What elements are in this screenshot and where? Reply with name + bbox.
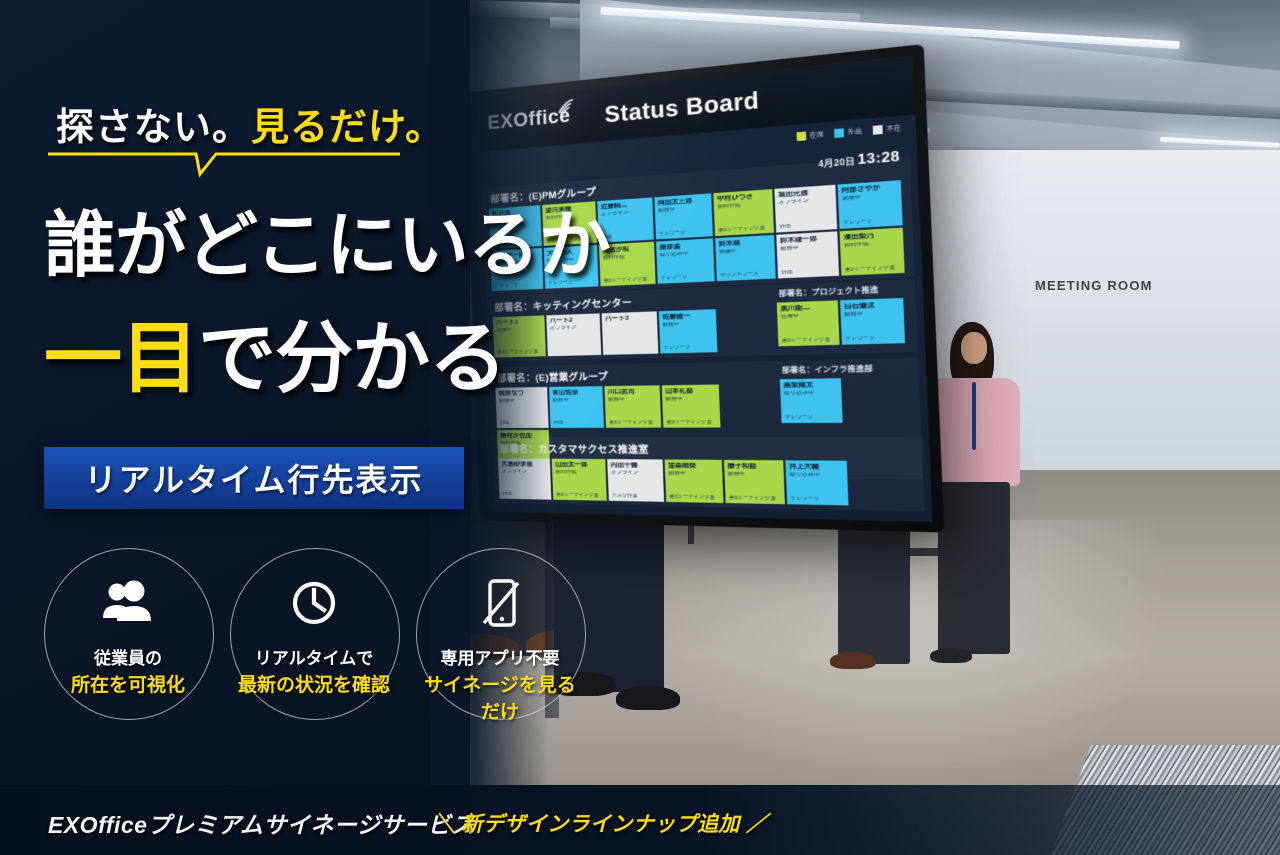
status-legend: 在席 外出 不在: [796, 122, 901, 141]
card-person-name: 黒川能二: [780, 303, 834, 312]
status-card[interactable]: 鈴木雄一郎勤務中外出: [776, 231, 839, 278]
meeting-room-sign: MEETING ROOM: [1035, 278, 1153, 293]
status-card[interactable]: 服部遥取り込み中テレワーク: [656, 238, 715, 283]
card-person-name: 山田太一郎: [555, 461, 603, 468]
card-status: 勤務中: [658, 205, 708, 214]
feature-circles: 従業員の 所在を可視化 リアルタイムで 最新の状況を確認: [44, 548, 584, 728]
feature-label-line1: 従業員の: [44, 644, 212, 669]
headline-rest: で分かる: [198, 314, 506, 402]
legend-item: 外出: [834, 126, 862, 138]
kicker-yellow: 見るだけ。: [251, 107, 444, 149]
card-location: テレワーク: [661, 274, 688, 281]
department-subgroup: 部署名：プロジェクト推進黒川能二在席中第3ミーティング室白石優汰勤務中テレワーク: [776, 283, 905, 346]
feature-realtime: リアルタイムで 最新の状況を確認: [230, 548, 400, 720]
underline-tail-icon: [48, 148, 400, 182]
card-location: テレワーク: [790, 496, 819, 503]
kicker-white: 探さない。: [56, 107, 251, 149]
advertisement-banner: MEETING ROOM: [0, 0, 1280, 855]
card-status: 勤務中: [552, 397, 599, 403]
speech-bubble-underline: [48, 148, 400, 182]
status-card[interactable]: 青山佐奈勤務中外出: [549, 386, 604, 428]
card-location: テレワーク: [843, 219, 873, 227]
status-card[interactable]: パート2オフライン: [546, 313, 601, 356]
card-location: テレワーク: [659, 230, 686, 237]
status-card[interactable]: 藤子和都勤務中第3ミーティング室: [724, 460, 785, 504]
card-location: 第2ミーティング室: [718, 225, 765, 234]
card-status: 勤務中: [663, 321, 714, 329]
status-card[interactable]: 岡田太三郎勤務中テレワーク: [654, 193, 712, 239]
status-card[interactable]: 阿部さやか退席中テレワーク: [838, 180, 903, 229]
status-card[interactable]: 金森陽葵勤務中第3ミーティング室: [665, 459, 724, 503]
department-subgroup: 部署名：インフラ推進部高梨陽太取り込み中テレワーク: [779, 363, 875, 423]
status-card[interactable]: 内田千鶴オフラインデスク作業: [607, 459, 664, 502]
card-status: オフライン: [550, 325, 597, 332]
card-status: 取り込み中: [789, 472, 843, 479]
card-status: 会議中: [719, 247, 771, 256]
card-person-name: 内田千鶴: [610, 462, 659, 469]
legend-swatch-in-office: [796, 131, 806, 141]
realtime-badge-label: リアルタイム行先表示: [84, 455, 423, 501]
card-location: 第3ミーティング室: [669, 494, 715, 501]
feature-no-app-needed: 専用アプリ不要 サイネージを見るだけ: [416, 548, 586, 720]
card-row: 黒川能二在席中第3ミーティング室白石優汰勤務中テレワーク: [777, 298, 905, 346]
card-person-name: パート3: [605, 314, 654, 323]
no-phone-icon: [416, 572, 584, 634]
footer-tagline: ＼ 新デザインラインナップ追加 ／: [434, 808, 767, 838]
card-location: 第3ミーティング室: [845, 265, 896, 273]
status-card[interactable]: 川口武司勤務中第3ミーティング室: [604, 385, 661, 427]
realtime-badge: リアルタイム行先表示: [44, 447, 464, 509]
card-person-name: 金森陽葵: [668, 462, 719, 470]
card-location: デスク作業: [612, 493, 638, 499]
feature-employee-visibility: 従業員の 所在を可視化: [44, 548, 214, 720]
status-card[interactable]: 高梨陽太取り込み中テレワーク: [780, 378, 843, 423]
feature-label-line2: 最新の状況を確認: [230, 670, 398, 697]
kicker-text: 探さない。見るだけ。: [56, 96, 444, 151]
card-person-name: 山本礼都: [665, 387, 716, 395]
card-person-name: 藤子和都: [727, 463, 780, 471]
card-location: 第3ミーティング室: [666, 420, 712, 426]
status-card[interactable]: 中村ひつき資料作成第2ミーティング室: [713, 189, 774, 236]
card-location: 第3ミーティング室: [729, 495, 776, 502]
card-status: 資料作成: [555, 470, 602, 476]
headline-line-1: 誰がどこにいるか: [44, 186, 610, 291]
legend-item: 在席: [796, 129, 823, 141]
card-location: テレワーク: [663, 345, 690, 352]
card-status: 取り込み中: [784, 390, 838, 397]
card-status: 資料作成: [844, 240, 900, 249]
card-location: 外出: [781, 270, 793, 277]
card-row: 大島砂李亜オフライン外出山田太一郎資料作成第3ミーティング室内田千鶴オフラインデ…: [498, 458, 917, 506]
feature-label-line2: サイネージを見るだけ: [416, 670, 584, 724]
feature-label-line1: リアルタイムで: [230, 644, 398, 669]
card-location: 第3ミーティング室: [609, 420, 653, 426]
status-card[interactable]: 鈴木瑛会議中サウンドブース: [715, 235, 776, 281]
status-card[interactable]: 山田太一郎資料作成第3ミーティング室: [552, 459, 607, 501]
card-location: 第3ミーティング室: [782, 337, 831, 344]
department-section: 部署名：カスタマサクセス推進室大島砂李亜オフライン外出山田太一郎資料作成第3ミー…: [497, 441, 917, 507]
clock-icon: [230, 572, 398, 634]
status-card[interactable]: 黒川能二在席中第3ミーティング室: [777, 300, 840, 346]
card-location: 外出: [553, 420, 563, 426]
status-card[interactable]: 白石優汰勤務中テレワーク: [840, 298, 905, 345]
status-card[interactable]: 濱田梨乃資料作成第3ミーティング室: [840, 228, 905, 276]
card-status: 勤務中: [728, 471, 781, 478]
card-status: 取り込み中: [660, 250, 711, 259]
card-person-name: 川口武司: [608, 388, 657, 396]
people-icon: [44, 572, 212, 634]
card-status: 退席中: [842, 192, 898, 202]
card-status: 勤務中: [668, 471, 719, 478]
legend-swatch-absent: [873, 124, 883, 134]
status-card[interactable]: 山本礼都勤務中第3ミーティング室: [662, 384, 721, 427]
legend-swatch-out: [834, 128, 844, 138]
status-card[interactable]: 城田元通オフライン外出: [774, 185, 837, 233]
card-status: 勤務中: [780, 243, 834, 252]
department-section: 部署名：キッティングセンターパート1退席中第3ミーティング室パート2オフラインパ…: [492, 283, 910, 358]
legend-label: 在席: [809, 129, 824, 140]
card-location: テレワーク: [785, 415, 814, 421]
legend-label: 不在: [886, 122, 901, 133]
card-status: 在席中: [781, 312, 835, 320]
card-status: オフライン: [611, 470, 660, 477]
status-card[interactable]: 井上大輔取り込み中テレワーク: [785, 460, 848, 505]
card-person-name: パート2: [549, 316, 596, 325]
card-location: 第3ミーティング室: [556, 492, 599, 498]
card-person-name: 青山佐奈: [552, 389, 599, 397]
feature-label-line2: 所在を可視化: [44, 670, 212, 697]
card-status: 勤務中: [665, 396, 716, 403]
card-status: 勤務中: [844, 310, 900, 318]
legend-item: 不在: [873, 122, 902, 134]
status-card[interactable]: パート3: [602, 311, 659, 355]
subgroup-name: 部署名：インフラ推進部: [782, 363, 873, 376]
card-location: テレワーク: [845, 336, 875, 343]
headline-highlight: 一目: [44, 314, 198, 402]
card-person-name: 白石優汰: [844, 301, 900, 311]
card-status: オフライン: [778, 197, 832, 207]
card-person-name: 佐藤健一: [662, 312, 713, 321]
legend-label: 外出: [847, 126, 862, 137]
card-location: 第3ミーティング室: [603, 276, 647, 284]
card-row: 高梨陽太取り込み中テレワーク: [780, 378, 875, 423]
card-status: 勤務中: [608, 397, 657, 404]
card-status: [605, 323, 654, 325]
card-person-name: 井上大輔: [789, 463, 843, 471]
card-person-name: 高梨陽太: [783, 381, 837, 389]
status-card[interactable]: 佐藤健一勤務中テレワーク: [659, 309, 718, 353]
feature-label-line1: 専用アプリ不要: [416, 644, 584, 669]
card-status: 資料作成: [717, 201, 769, 211]
card-location: 外出: [779, 224, 791, 231]
card-location: サウンドブース: [720, 271, 759, 279]
footer-service-name: EXOfficeプレミアムサイネージサービス: [48, 806, 474, 840]
headline-line-2: 一目で分かる: [44, 296, 506, 408]
